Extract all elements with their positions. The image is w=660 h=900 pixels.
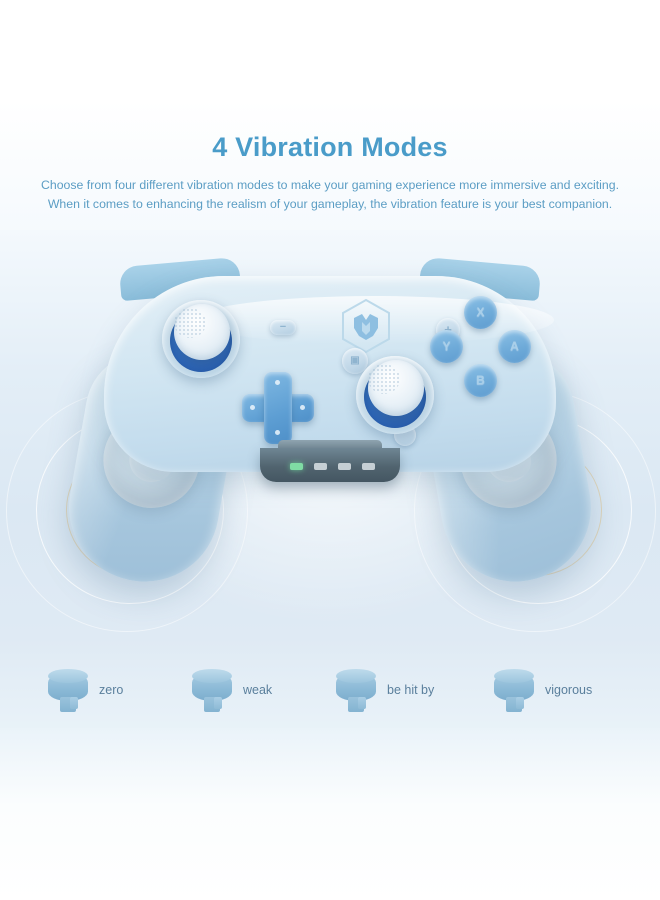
dpad-right-icon [300, 405, 305, 410]
vibration-motor-icon [46, 667, 90, 713]
right-analog-stick[interactable] [356, 356, 434, 434]
game-controller: − + ▣ X Y A B [60, 262, 600, 622]
legend-label: weak [243, 683, 272, 697]
description-text: Choose from four different vibration mod… [0, 176, 660, 214]
legend-item-zero: zero [46, 660, 123, 720]
face-button-y[interactable]: Y [430, 330, 463, 363]
right-stick-texture [368, 364, 400, 394]
left-analog-stick[interactable] [162, 300, 240, 378]
page-title: 4 Vibration Modes [0, 132, 660, 163]
background-bottom [0, 728, 660, 900]
vibration-motor-icon [334, 667, 378, 713]
dpad-down-icon [275, 430, 280, 435]
vibration-mode-legend: zero weak be hit by vigorous [0, 660, 660, 726]
legend-label: be hit by [387, 683, 434, 697]
led-player-3 [338, 463, 351, 470]
legend-label: zero [99, 683, 123, 697]
legend-item-vigorous: vigorous [492, 660, 592, 720]
face-button-b[interactable]: B [464, 364, 497, 397]
left-stick-texture [174, 308, 206, 338]
minus-button[interactable]: − [270, 320, 296, 335]
led-player-4 [362, 463, 375, 470]
promo-image: 4 Vibration Modes Choose from four diffe… [0, 0, 660, 900]
dpad-left-icon [250, 405, 255, 410]
legend-item-be-hit-by: be hit by [334, 660, 434, 720]
led-player-2 [314, 463, 327, 470]
led-player-1 [290, 463, 303, 470]
dpad-up-icon [275, 380, 280, 385]
dpad[interactable] [242, 372, 314, 444]
brand-logo-icon [340, 298, 392, 354]
vibration-motor-icon [492, 667, 536, 713]
legend-label: vigorous [545, 683, 592, 697]
description-line-1: Choose from four different vibration mod… [0, 176, 660, 195]
face-button-a[interactable]: A [498, 330, 531, 363]
led-indicator-bar [260, 448, 400, 482]
legend-item-weak: weak [190, 660, 272, 720]
face-button-x[interactable]: X [464, 296, 497, 329]
vibration-motor-icon [190, 667, 234, 713]
description-line-2: When it comes to enhancing the realism o… [0, 195, 660, 214]
